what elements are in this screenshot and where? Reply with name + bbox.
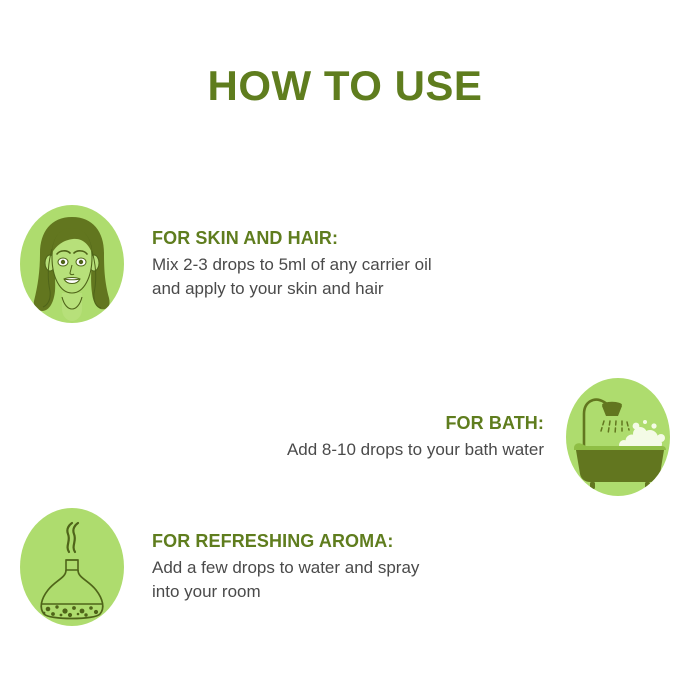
woman-face-icon (20, 205, 124, 323)
page-title: HOW TO USE (0, 62, 690, 110)
section-heading: FOR SKIN AND HAIR: (152, 227, 432, 250)
section-body: Add a few drops to water and spray into … (152, 556, 419, 604)
how-to-use-infographic: HOW TO USE (0, 0, 690, 700)
section-bath: FOR BATH: Add 8-10 drops to your bath wa… (20, 378, 670, 496)
section-skin-and-hair: FOR SKIN AND HAIR: Mix 2-3 drops to 5ml … (20, 205, 670, 323)
section-body: Add 8-10 drops to your bath water (287, 438, 544, 462)
section-heading: FOR BATH: (287, 412, 544, 435)
bathtub-shower-icon (566, 378, 670, 496)
section-text-skin-and-hair: FOR SKIN AND HAIR: Mix 2-3 drops to 5ml … (124, 227, 432, 302)
section-text-bath: FOR BATH: Add 8-10 drops to your bath wa… (287, 412, 566, 463)
section-refreshing-aroma: FOR REFRESHING AROMA: Add a few drops to… (20, 508, 670, 626)
section-text-refreshing-aroma: FOR REFRESHING AROMA: Add a few drops to… (124, 530, 419, 605)
section-body: Mix 2-3 drops to 5ml of any carrier oil … (152, 253, 432, 301)
aroma-diffuser-icon (20, 508, 124, 626)
section-heading: FOR REFRESHING AROMA: (152, 530, 419, 553)
